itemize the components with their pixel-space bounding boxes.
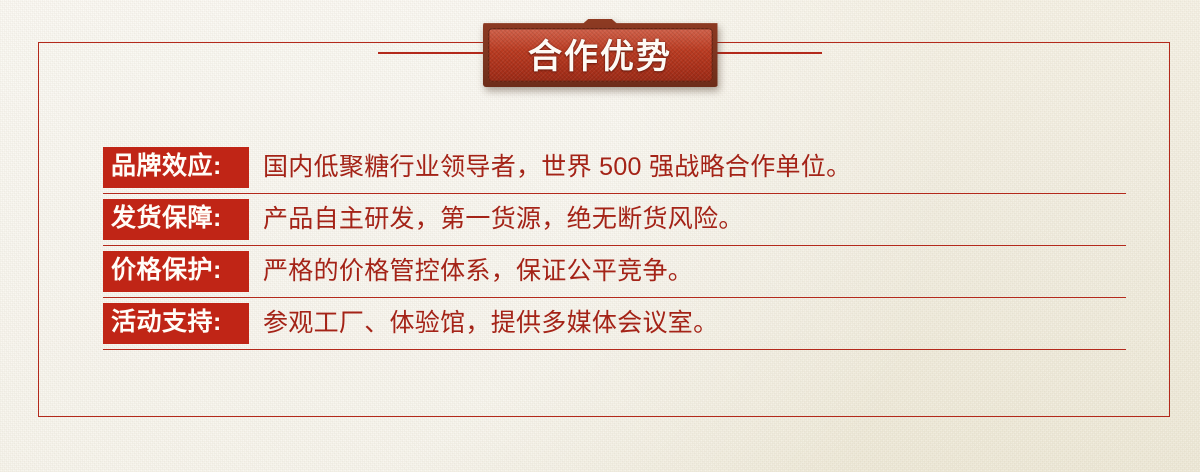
section-title-area: 合作优势 [0,18,1200,88]
advantage-tag-activity-support: 活动支持: [103,303,249,344]
list-item: 品牌效应: 国内低聚糖行业领导者，世界 500 强战略合作单位。 [103,142,1126,194]
title-rule-left [378,52,488,54]
advantage-tag-price-protection: 价格保护: [103,251,249,292]
advantage-text-brand-effect: 国内低聚糖行业领导者，世界 500 强战略合作单位。 [249,155,1126,180]
promo-section: 合作优势 品牌效应: 国内低聚糖行业领导者，世界 500 强战略合作单位。 发货… [0,0,1200,472]
plaque-face: 合作优势 [488,28,713,82]
advantage-text-shipping-guarantee: 产品自主研发，第一货源，绝无断货风险。 [249,207,1126,232]
advantage-tag-brand-effect: 品牌效应: [103,147,249,188]
title-plaque: 合作优势 [483,19,718,87]
list-item: 发货保障: 产品自主研发，第一货源，绝无断货风险。 [103,194,1126,246]
title-rule-right [712,52,822,54]
advantage-tag-shipping-guarantee: 发货保障: [103,199,249,240]
section-title-text: 合作优势 [528,37,672,74]
advantage-list: 品牌效应: 国内低聚糖行业领导者，世界 500 强战略合作单位。 发货保障: 产… [103,142,1126,350]
advantage-text-price-protection: 严格的价格管控体系，保证公平竞争。 [249,259,1126,284]
list-item: 活动支持: 参观工厂、体验馆，提供多媒体会议室。 [103,298,1126,350]
advantage-text-activity-support: 参观工厂、体验馆，提供多媒体会议室。 [249,311,1126,336]
list-item: 价格保护: 严格的价格管控体系，保证公平竞争。 [103,246,1126,298]
